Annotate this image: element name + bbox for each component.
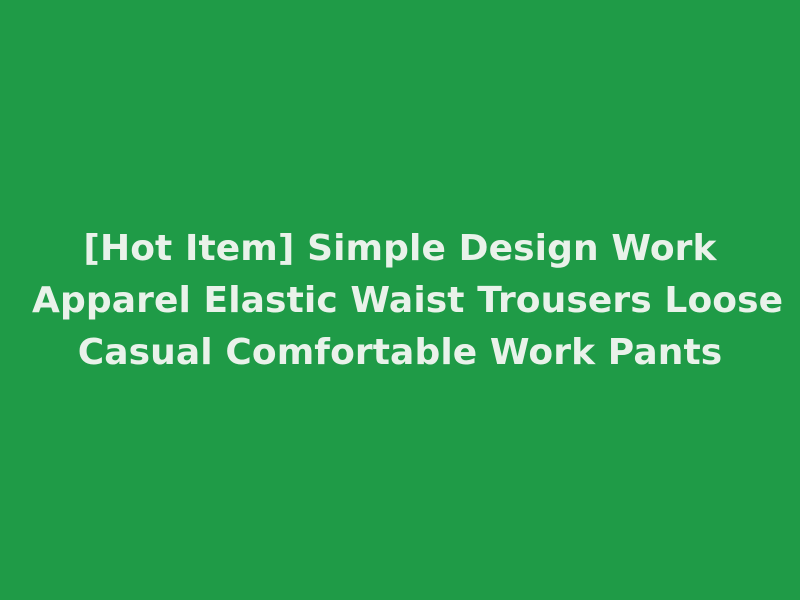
page-title-line-2: Apparel Elastic Waist Trousers Loose (32, 275, 768, 327)
page-title-line-1: [Hot Item] Simple Design Work (32, 223, 768, 275)
page-title: [Hot Item] Simple Design Work Apparel El… (32, 223, 768, 379)
page-title-line-3: Casual Comfortable Work Pants (32, 327, 768, 379)
product-title-placeholder-card: [Hot Item] Simple Design Work Apparel El… (0, 0, 800, 600)
